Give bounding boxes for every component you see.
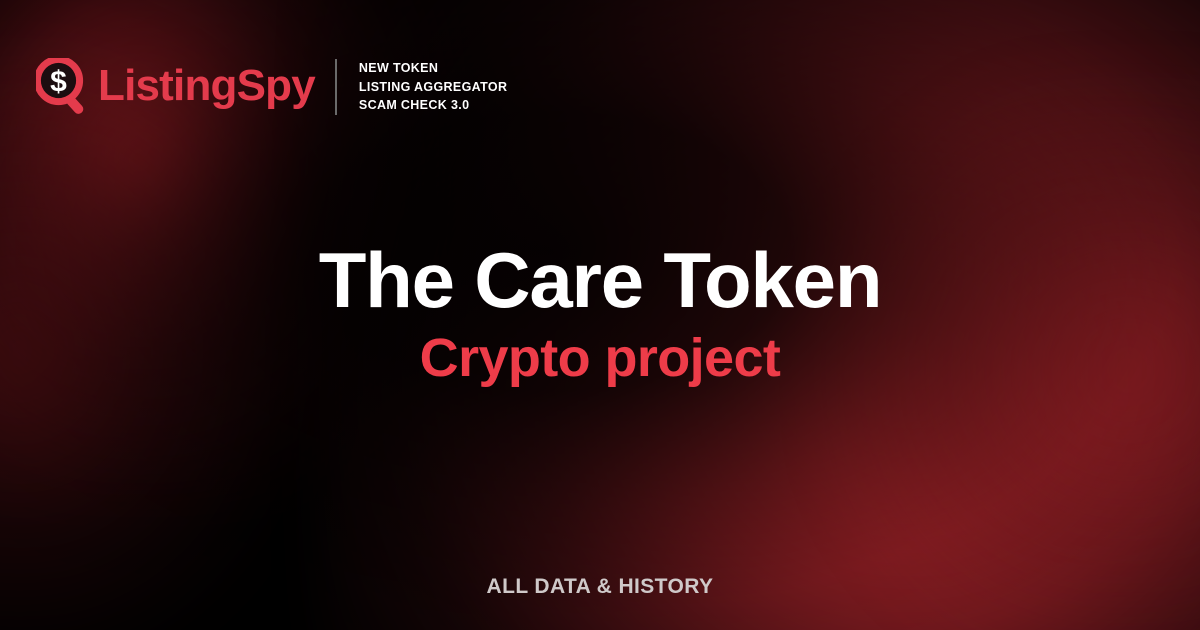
svg-text:$: $ bbox=[50, 66, 67, 99]
page-title: The Care Token bbox=[0, 238, 1200, 322]
brand-wordmark: ListingSpy bbox=[98, 64, 315, 110]
magnifier-dollar-icon: $ bbox=[36, 58, 92, 118]
brand-tagline: NEW TOKEN LISTING AGGREGATOR SCAM CHECK … bbox=[359, 60, 507, 114]
banner-canvas: $ ListingSpy NEW TOKEN LISTING AGGREGATO… bbox=[0, 0, 1200, 630]
footer-section: ALL DATA & HISTORY bbox=[0, 576, 1200, 598]
brand-header: $ ListingSpy NEW TOKEN LISTING AGGREGATO… bbox=[36, 56, 507, 118]
hero-section: The Care Token Crypto project bbox=[0, 238, 1200, 389]
page-subtitle: Crypto project bbox=[0, 328, 1200, 388]
footer-caption: ALL DATA & HISTORY bbox=[487, 575, 714, 598]
tagline-line-2: LISTING AGGREGATOR bbox=[359, 79, 507, 96]
header-divider bbox=[335, 59, 337, 115]
tagline-line-3: SCAM CHECK 3.0 bbox=[359, 97, 507, 114]
tagline-line-1: NEW TOKEN bbox=[359, 60, 507, 77]
brand-logo-link[interactable]: $ ListingSpy bbox=[36, 56, 315, 118]
